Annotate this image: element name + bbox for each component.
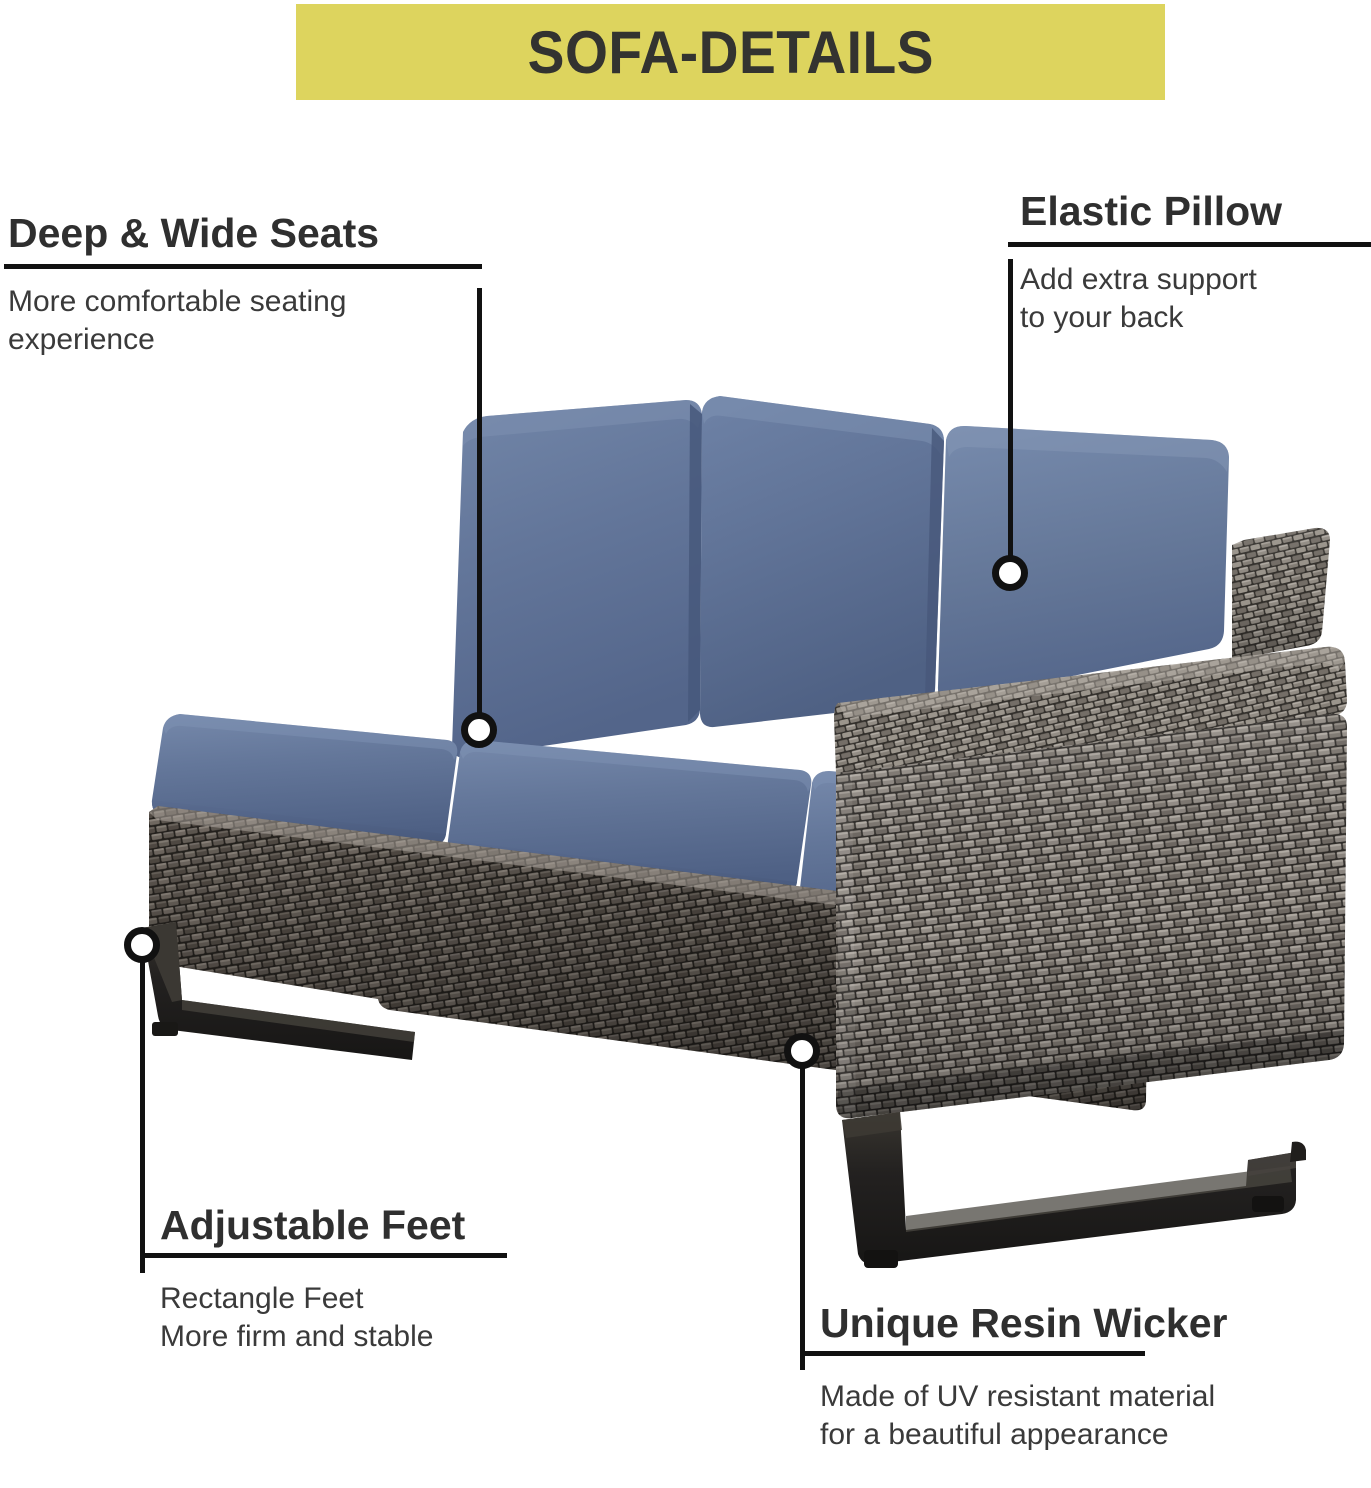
page-title: SOFA-DETAILS	[527, 18, 933, 87]
callout-heading-deep-wide-seats: Deep & Wide Seats	[8, 212, 482, 255]
callout-body-elastic-pillow: Add extra support to your back	[1020, 261, 1371, 337]
callout-body-line-1: Rectangle Feet	[160, 1280, 507, 1318]
callout-body-adjustable-feet: Rectangle Feet More firm and stable	[160, 1280, 507, 1356]
callout-unique-resin-wicker: Unique Resin Wicker Made of UV resistant…	[800, 1302, 1227, 1454]
callout-heading-unique-resin-wicker: Unique Resin Wicker	[820, 1302, 1227, 1345]
metal-leg-left	[142, 922, 415, 1060]
callout-body-deep-wide-seats: More comfortable seating experience	[8, 283, 482, 359]
marker-elastic-pillow	[992, 555, 1028, 591]
callout-body-line-1: Made of UV resistant material	[820, 1378, 1227, 1416]
seat-cushion-center	[448, 740, 811, 894]
seat-cushion-left	[152, 714, 457, 845]
callout-rule-adjustable-feet	[140, 1253, 507, 1258]
title-banner: SOFA-DETAILS	[296, 4, 1165, 100]
seat-cushion-right	[800, 771, 1155, 940]
infographic-canvas: SOFA-DETAILS Deep & Wide Seats More comf…	[0, 0, 1371, 1488]
marker-unique-resin-wicker	[784, 1033, 820, 1069]
wicker-base-panel	[149, 806, 1148, 1110]
callout-body-line-1: More comfortable seating	[8, 283, 482, 321]
leader-line-unique-resin-wicker	[800, 1064, 805, 1370]
callout-body-line-1: Add extra support	[1020, 261, 1371, 299]
back-cushion-left	[452, 400, 702, 758]
callout-rule-deep-wide-seats	[4, 264, 482, 269]
callout-body-line-2: to your back	[1020, 299, 1371, 337]
arm-panel-right	[834, 647, 1347, 1118]
callout-adjustable-feet: Adjustable Feet Rectangle Feet More firm…	[140, 1204, 507, 1356]
callout-body-line-2: for a beautiful appearance	[820, 1416, 1227, 1454]
marker-adjustable-feet	[124, 927, 160, 963]
callout-deep-wide-seats: Deep & Wide Seats More comfortable seati…	[4, 212, 482, 359]
callout-body-line-2: experience	[8, 321, 482, 359]
leader-line-elastic-pillow	[1008, 259, 1013, 575]
callout-heading-adjustable-feet: Adjustable Feet	[160, 1204, 507, 1247]
callout-heading-elastic-pillow: Elastic Pillow	[1020, 190, 1371, 233]
leader-line-adjustable-feet	[140, 958, 145, 1273]
callout-rule-elastic-pillow	[1008, 242, 1371, 247]
callout-body-unique-resin-wicker: Made of UV resistant material for a beau…	[820, 1378, 1227, 1454]
back-cushion-center	[700, 396, 944, 727]
marker-deep-wide-seats	[461, 712, 497, 748]
metal-leg-right	[842, 1112, 1306, 1268]
callout-body-line-2: More firm and stable	[160, 1318, 507, 1356]
callout-rule-unique-resin-wicker	[800, 1351, 1145, 1356]
callout-elastic-pillow: Elastic Pillow Add extra support to your…	[1008, 190, 1371, 337]
leader-line-deep-wide-seats	[477, 288, 482, 732]
